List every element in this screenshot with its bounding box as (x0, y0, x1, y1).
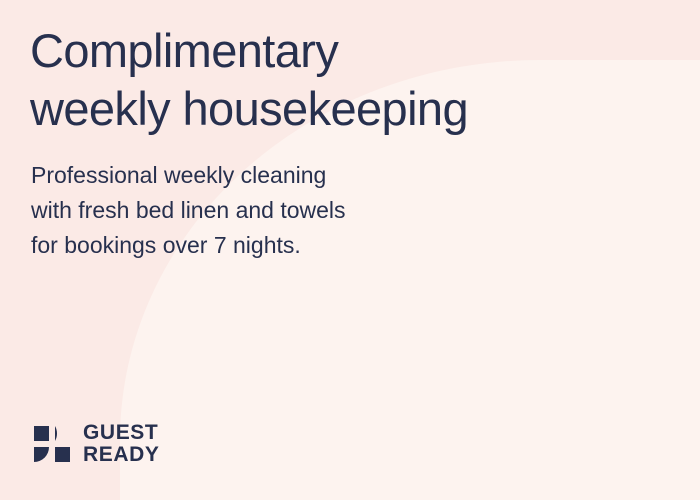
headline-line-2: weekly housekeeping (30, 80, 630, 138)
subcopy-line-1: Professional weekly cleaning (31, 158, 346, 193)
subcopy-line-2: with fresh bed linen and towels (31, 193, 346, 228)
brand-name-line-2: READY (83, 444, 160, 466)
guestready-logo-mark-icon (32, 424, 72, 464)
page-title: Complimentary weekly housekeeping (30, 22, 630, 139)
brand-name-line-1: GUEST (83, 422, 160, 444)
headline-line-1: Complimentary (30, 22, 630, 80)
subcopy-line-3: for bookings over 7 nights. (31, 228, 346, 263)
brand-logo: GUEST READY (32, 422, 160, 467)
brand-logo-text: GUEST READY (83, 422, 160, 467)
subcopy: Professional weekly cleaning with fresh … (31, 158, 346, 263)
promo-banner: Complimentary weekly housekeeping Profes… (0, 0, 700, 500)
